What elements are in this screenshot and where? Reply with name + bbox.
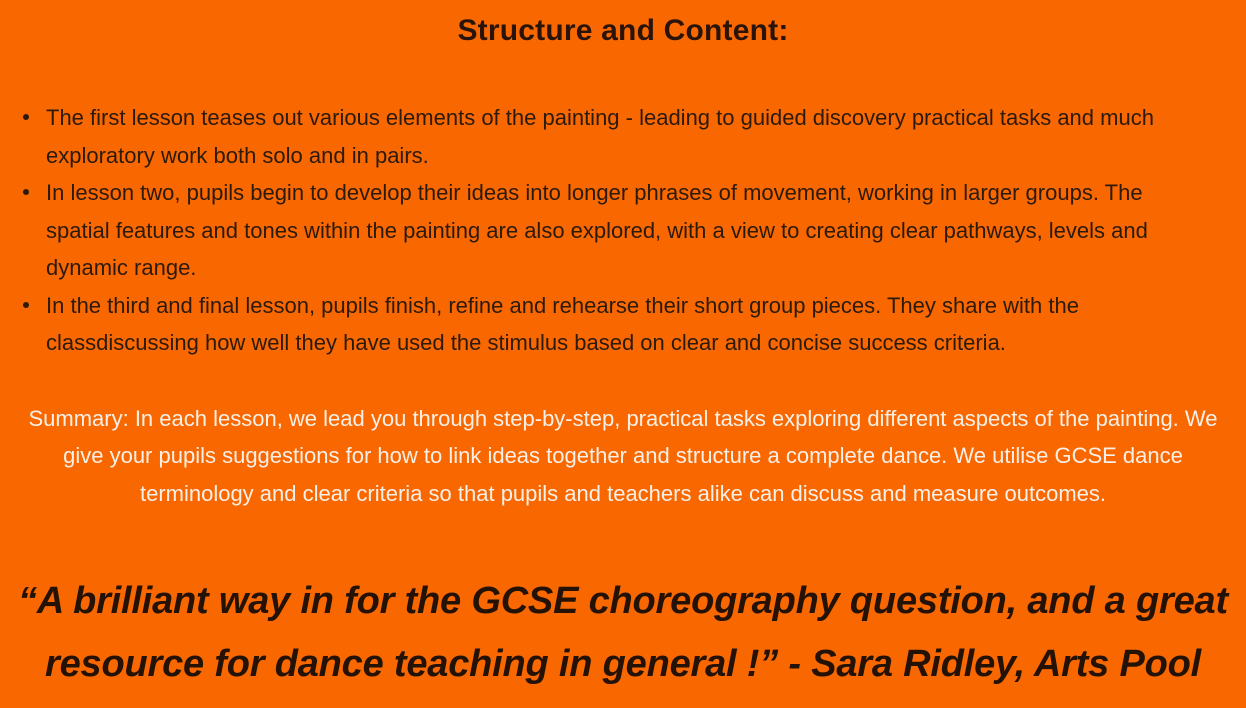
summary-paragraph: Summary: In each lesson, we lead you thr…	[0, 400, 1246, 513]
list-item: In lesson two, pupils begin to develop t…	[0, 174, 1246, 287]
list-item-text: In the third and final lesson, pupils fi…	[46, 293, 1079, 356]
testimonial-quote: “A brilliant way in for the GCSE choreog…	[0, 570, 1246, 696]
bullet-dot-icon	[23, 302, 29, 308]
list-item: The first lesson teases out various elem…	[0, 99, 1246, 174]
bullet-dot-icon	[23, 189, 29, 195]
structure-bullet-list: The first lesson teases out various elem…	[0, 99, 1246, 362]
bullet-dot-icon	[23, 114, 29, 120]
page-title: Structure and Content:	[0, 0, 1246, 47]
list-item: In the third and final lesson, pupils fi…	[0, 287, 1246, 362]
list-item-text: In lesson two, pupils begin to develop t…	[46, 180, 1148, 280]
list-item-text: The first lesson teases out various elem…	[46, 105, 1154, 168]
slide-root: Structure and Content: The first lesson …	[0, 0, 1246, 708]
